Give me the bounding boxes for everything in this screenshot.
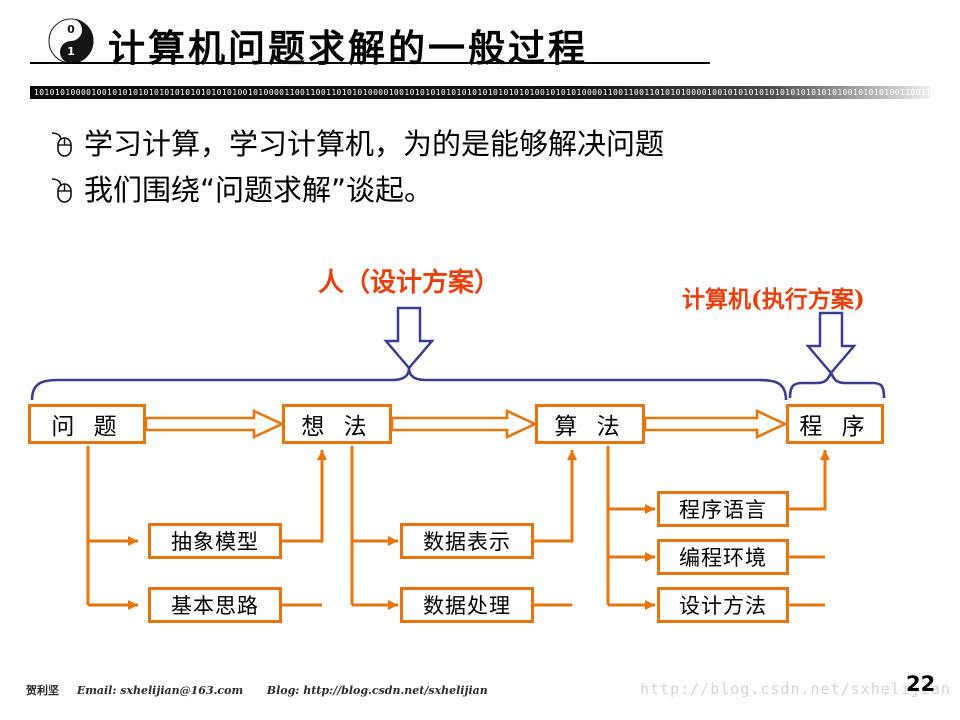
node-data-processing[interactable]: 数据处理: [400, 587, 534, 623]
page-number: 22: [906, 672, 935, 696]
node-algorithm[interactable]: 算 法: [535, 404, 645, 444]
node-programming-environment[interactable]: 编程环境: [657, 539, 789, 575]
flow-arrow-problem-idea: [146, 411, 282, 437]
slide: 0 1 计算机问题求解的一般过程 10101010000100101010101…: [0, 0, 960, 720]
node-data-representation[interactable]: 数据表示: [400, 523, 534, 559]
down-arrow-human: [386, 308, 432, 368]
footer-email: Email: sxhelijian@163.com: [77, 684, 243, 697]
connector-algorithm-subs: [608, 446, 830, 610]
node-problem[interactable]: 问 题: [28, 404, 146, 444]
node-idea[interactable]: 想 法: [282, 404, 392, 444]
brace-computer-span: [790, 373, 884, 398]
node-programming-language[interactable]: 程序语言: [657, 491, 789, 527]
flow-arrow-algorithm-program: [645, 411, 785, 437]
brace-human-span: [32, 368, 786, 400]
node-design-method[interactable]: 设计方法: [657, 587, 789, 623]
watermark: http://blog.csdn.net/sxhelijian: [640, 680, 951, 698]
footer-blog: Blog: http://blog.csdn.net/sxhelijian: [267, 684, 488, 697]
footer: 贺利坚 Email: sxhelijian@163.com Blog: http…: [26, 682, 488, 698]
node-basic-approach[interactable]: 基本思路: [148, 587, 282, 623]
footer-author: 贺利坚: [26, 684, 59, 697]
node-program[interactable]: 程 序: [786, 404, 884, 444]
node-abstract-model[interactable]: 抽象模型: [148, 523, 282, 559]
flow-arrow-idea-algorithm: [392, 411, 535, 437]
down-arrow-computer: [808, 313, 854, 373]
